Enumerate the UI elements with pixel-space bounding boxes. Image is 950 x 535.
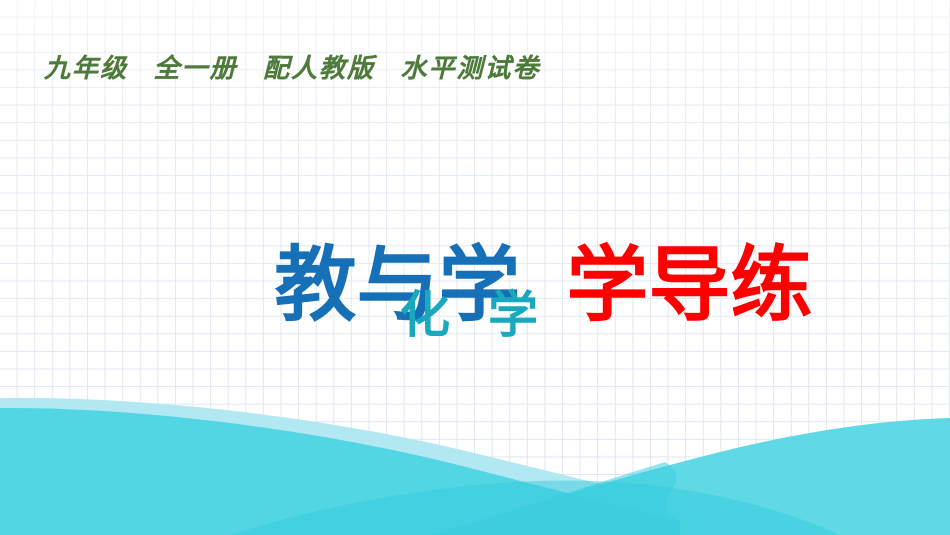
- header-subject-line: 九年级 全一册 配人教版 水平测试卷: [44, 48, 541, 85]
- slide-text-layer: 九年级 全一册 配人教版 水平测试卷 教与学学导练 化 学: [0, 0, 950, 535]
- page-title: 教与学学导练: [0, 163, 950, 409]
- subject-name: 化 学: [0, 290, 950, 340]
- presentation-slide: 九年级 全一册 配人教版 水平测试卷 教与学学导练 化 学: [0, 0, 950, 535]
